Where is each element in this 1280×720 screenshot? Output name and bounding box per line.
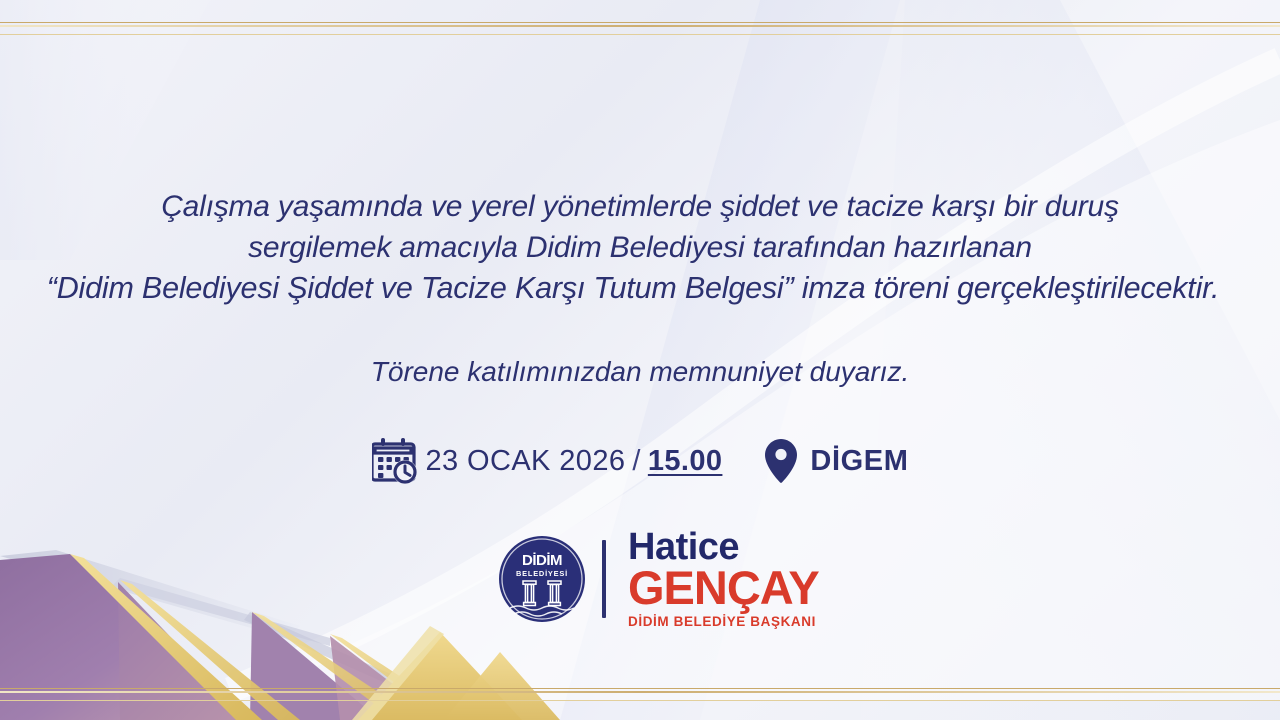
mayor-name-block: Hatice GENÇAY DİDİM BELEDİYE BAŞKANI (628, 528, 819, 629)
event-time: 15.00 (648, 445, 723, 478)
mayor-title: DİDİM BELEDİYE BAŞKANI (628, 614, 816, 629)
corner-geometric-artwork (0, 520, 620, 720)
event-venue-group: DİGEM (764, 438, 908, 484)
invitation-poster: Çalışma yaşamında ve yerel yönetimlerde … (0, 0, 1280, 720)
invitation-line-1: Çalışma yaşamında ve yerel yönetimlerde … (0, 186, 1280, 227)
invitation-text-block: Çalışma yaşamında ve yerel yönetimlerde … (0, 186, 1280, 309)
gold-rule-bottom-upper (0, 688, 1280, 689)
mayor-last-name: GENÇAY (628, 564, 819, 611)
meta-separator: / (632, 445, 640, 478)
gold-rule-top-thick (0, 25, 1280, 27)
event-meta-row: 23 OCAK 2026 / 15.00 DİGEM (0, 436, 1280, 486)
gold-rule-top-lower (0, 34, 1280, 35)
invitation-line-3: “Didim Belediyesi Şiddet ve Tacize Karşı… (0, 268, 1280, 309)
closing-line: Törene katılımınızdan memnuniyet duyarız… (0, 352, 1280, 392)
event-date: 23 OCAK 2026 (426, 445, 626, 478)
gold-rule-bottom-lower (0, 700, 1280, 701)
invitation-line-2: sergilemek amacıyla Didim Belediyesi tar… (0, 227, 1280, 268)
event-datetime-group: 23 OCAK 2026 / 15.00 (372, 436, 723, 486)
location-pin-icon (764, 438, 798, 484)
gold-rule-top-upper (0, 22, 1280, 23)
gold-rule-bottom-thick (0, 691, 1280, 693)
event-venue: DİGEM (810, 445, 908, 478)
calendar-clock-icon (372, 436, 424, 486)
